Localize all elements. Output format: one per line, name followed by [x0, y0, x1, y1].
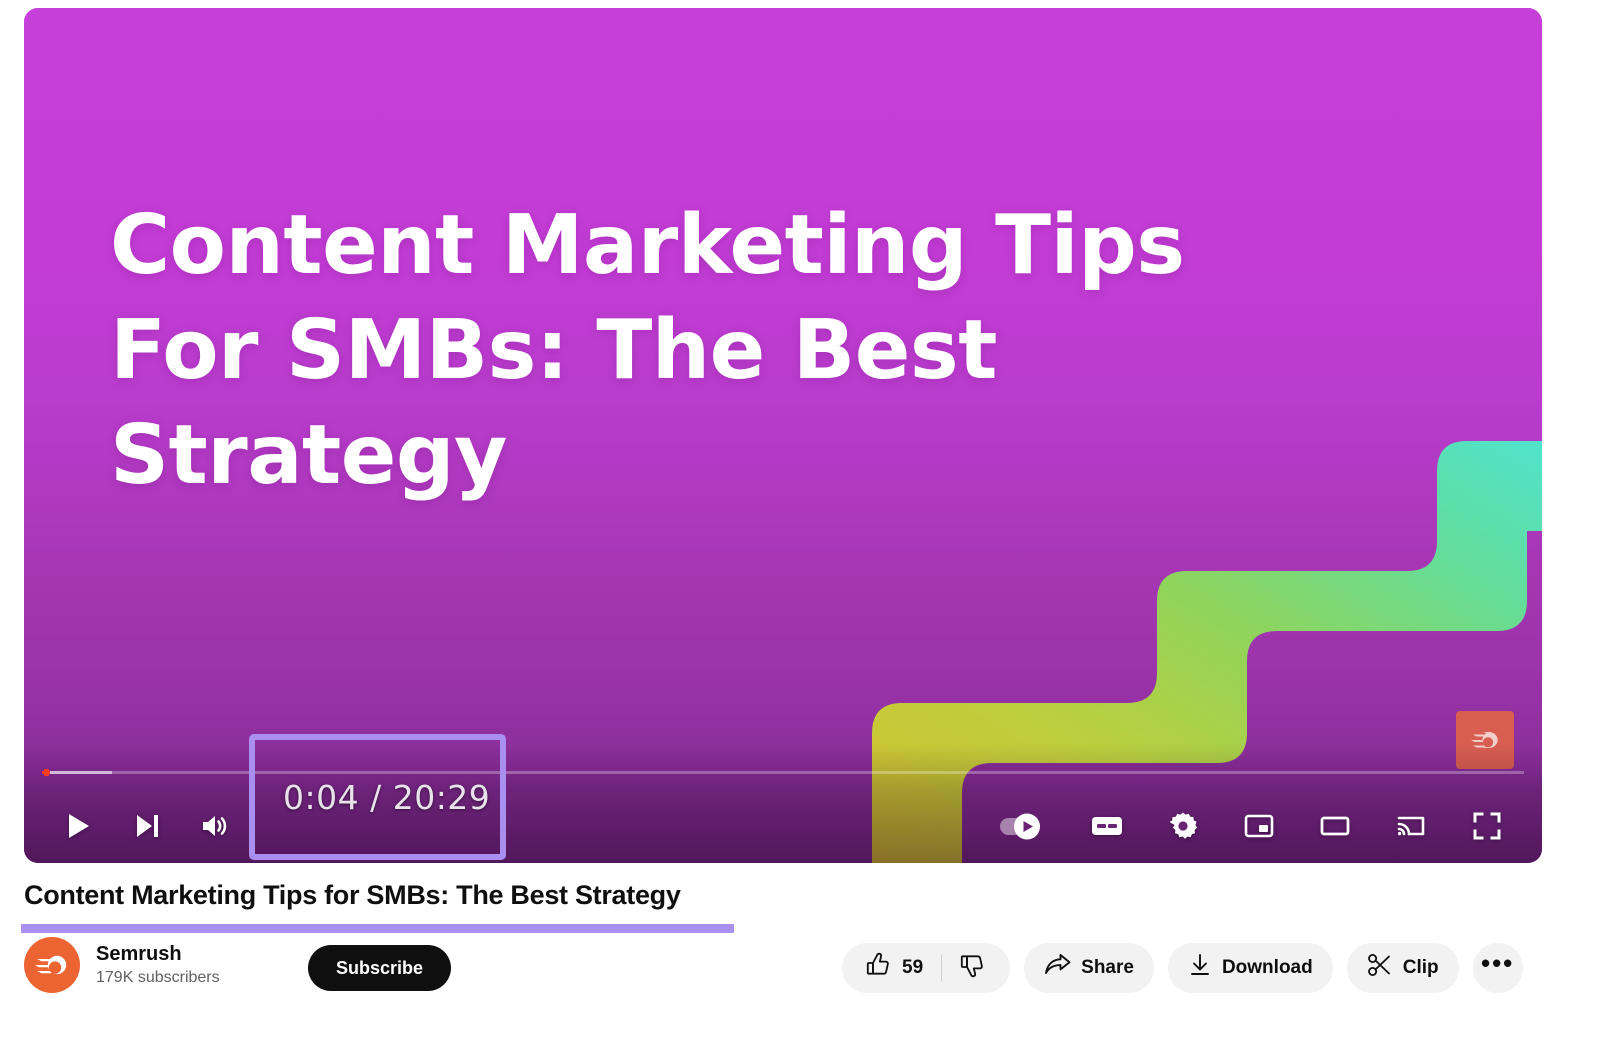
- subscribe-button[interactable]: Subscribe: [308, 945, 451, 991]
- share-label: Share: [1081, 957, 1134, 979]
- thumbnail-headline-line1: Content Marketing Tips: [110, 198, 1185, 293]
- player-control-bar[interactable]: [24, 743, 1542, 863]
- clip-button[interactable]: Clip: [1347, 943, 1459, 993]
- action-buttons: 59 Share: [842, 943, 1523, 993]
- share-arrow-icon: [1044, 953, 1071, 983]
- scissors-icon: [1367, 952, 1393, 984]
- play-icon[interactable]: [58, 805, 100, 847]
- page-title: Content Marketing Tips for SMBs: The Bes…: [24, 880, 681, 911]
- autoplay-toggle-icon[interactable]: [998, 813, 1052, 839]
- left-controls: [58, 805, 236, 847]
- video-player[interactable]: Content Marketing Tips For SMBs: The Bes…: [24, 8, 1542, 863]
- like-button[interactable]: 59: [848, 943, 941, 993]
- thumbnail-headline: Content Marketing Tips For SMBs: The Bes…: [110, 194, 1410, 509]
- share-button[interactable]: Share: [1024, 943, 1154, 993]
- like-count: 59: [902, 957, 923, 979]
- thumbs-down-icon: [960, 952, 986, 984]
- thumbnail-headline-line2: For SMBs: The Best Strategy: [110, 299, 1410, 509]
- dislike-button[interactable]: [942, 943, 1004, 993]
- closed-captions-icon[interactable]: [1086, 805, 1128, 847]
- cast-icon[interactable]: [1390, 805, 1432, 847]
- clip-label: Clip: [1403, 957, 1439, 979]
- next-track-icon[interactable]: [126, 805, 168, 847]
- progress-bar[interactable]: [24, 769, 1542, 775]
- channel-name[interactable]: Semrush: [96, 942, 220, 966]
- video-meta: Content Marketing Tips for SMBs: The Bes…: [24, 880, 1544, 911]
- subscriber-count: 179K subscribers: [96, 968, 220, 987]
- channel-info[interactable]: Semrush 179K subscribers: [24, 937, 220, 993]
- thumbs-up-icon: [866, 952, 892, 984]
- volume-icon[interactable]: [194, 805, 236, 847]
- miniplayer-icon[interactable]: [1238, 805, 1280, 847]
- channel-and-actions-row: Semrush 179K subscribers Subscribe 59: [24, 937, 1569, 999]
- progress-track[interactable]: [42, 771, 1524, 774]
- semrush-comet-avatar-icon[interactable]: [24, 937, 80, 993]
- progress-loaded: [42, 771, 112, 774]
- time-display: 0:04 / 20:29: [283, 778, 490, 817]
- download-label: Download: [1222, 957, 1313, 979]
- ellipsis-icon[interactable]: •••: [1473, 943, 1523, 993]
- theater-mode-icon[interactable]: [1314, 805, 1356, 847]
- right-controls: [998, 805, 1508, 847]
- download-button[interactable]: Download: [1168, 943, 1333, 993]
- title-highlight-underline: [21, 924, 734, 933]
- fullscreen-icon[interactable]: [1466, 805, 1508, 847]
- like-dislike-group: 59: [842, 943, 1010, 993]
- download-arrow-icon: [1188, 953, 1212, 983]
- channel-text: Semrush 179K subscribers: [96, 942, 220, 987]
- progress-scrubber-handle[interactable]: [44, 769, 49, 776]
- gear-icon[interactable]: [1162, 805, 1204, 847]
